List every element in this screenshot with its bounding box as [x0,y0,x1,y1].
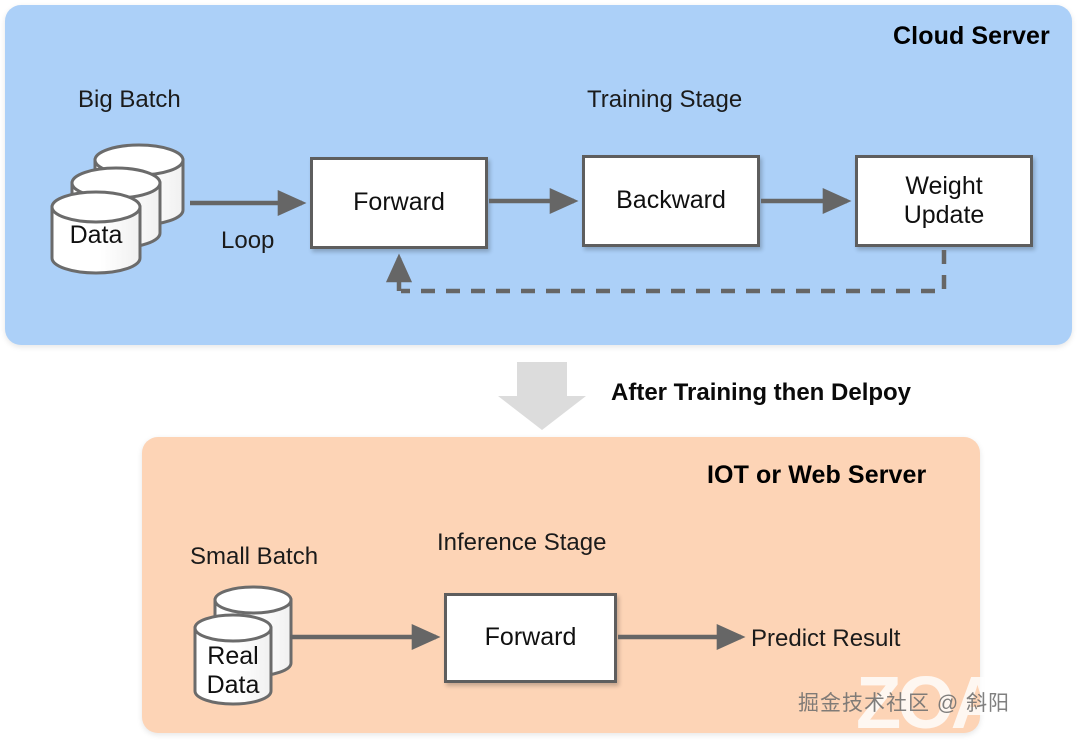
predict-result-label: Predict Result [751,625,900,653]
training-stage-label: Training Stage [587,86,742,114]
edge-server-title-rest: or Web Server [749,461,926,489]
diagram-canvas: Cloud Server Big Batch Training Stage Lo… [0,0,1080,740]
weight-update-box-label-line2: Update [904,201,985,231]
backward-box-label: Backward [616,186,726,216]
watermark-text: 掘金技术社区 @ 斜阳 [798,687,1010,717]
weight-update-box-label-line1: Weight [905,172,982,202]
deploy-caption: After Training then Delpoy [611,379,911,407]
forward-inference-box-label: Forward [485,623,577,653]
forward-box[interactable]: Forward [310,157,488,249]
forward-inference-box[interactable]: Forward [444,593,617,683]
big-batch-label: Big Batch [78,86,181,114]
forward-box-label: Forward [353,188,445,218]
weight-update-box[interactable]: Weight Update [855,155,1033,247]
cloud-server-title: Cloud Server [893,22,1050,51]
backward-box[interactable]: Backward [582,155,760,247]
small-batch-label: Small Batch [190,543,318,571]
inference-stage-label: Inference Stage [437,529,606,557]
edge-server-title-strong: IOT [707,461,749,489]
loop-label: Loop [221,227,274,255]
deploy-down-arrow-icon [498,362,586,430]
edge-server-title: IOT or Web Server [707,461,926,490]
